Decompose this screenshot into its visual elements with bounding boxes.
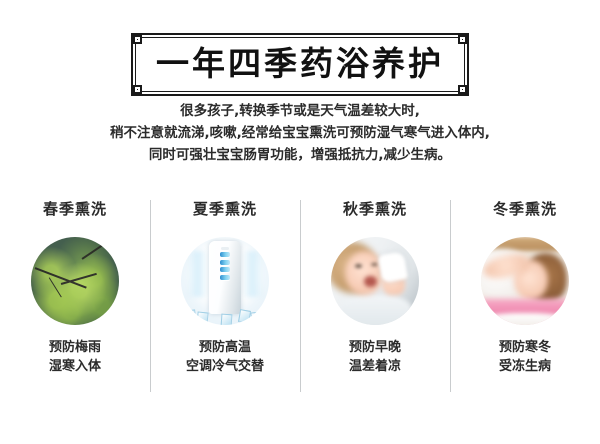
page-title: 一年四季药浴养护 <box>131 33 469 96</box>
season-caption-winter: 预防寒冬 受冻生病 <box>499 338 551 376</box>
cold-air-flow-icon <box>241 251 264 297</box>
season-grid: 春季熏洗 预防梅雨 湿寒入体 夏季熏洗 <box>0 196 600 396</box>
cold-air-flow-icon <box>186 251 209 297</box>
column-divider <box>450 200 451 392</box>
ac-vent <box>220 260 230 265</box>
caption-line-2: 空调冷气交替 <box>186 357 264 376</box>
season-caption-autumn: 预防早晚 温差着凉 <box>349 338 401 376</box>
intro-paragraph: 很多孩子,转换季节或是天气温差较大时, 稍不注意就流涕,咳嗽,经常给宝宝熏洗可预… <box>0 100 600 166</box>
ice-cube-icon <box>221 313 233 325</box>
season-title-autumn: 秋季熏洗 <box>343 202 407 217</box>
child-eye <box>355 264 362 268</box>
column-divider <box>150 200 151 392</box>
season-caption-summer: 预防高温 空调冷气交替 <box>186 338 264 376</box>
child-eye <box>371 263 378 267</box>
caption-line-1: 预防高温 <box>186 338 264 357</box>
intro-line-2: 稍不注意就流涕,咳嗽,经常给宝宝熏洗可预防湿气寒气进入体内, <box>0 122 600 144</box>
ice-cube-icon <box>251 311 264 325</box>
child-shirt <box>338 295 412 325</box>
season-title-spring: 春季熏洗 <box>43 202 107 217</box>
bed-sheet <box>481 313 569 325</box>
spring-foliage-photo <box>31 237 119 325</box>
caption-line-2: 受冻生病 <box>499 357 551 376</box>
intro-line-3: 同时可强壮宝宝肠胃功能，增强抵抗力,减少生病。 <box>0 144 600 166</box>
ac-control-panel <box>221 247 230 250</box>
caption-line-1: 预防梅雨 <box>49 338 101 357</box>
air-conditioner-icon <box>209 241 241 315</box>
ac-vent <box>220 267 230 272</box>
tissue-icon <box>378 251 409 283</box>
season-column-summer: 夏季熏洗 预防高温 空调冷气交替 <box>150 196 300 396</box>
autumn-child-sneezing-photo <box>331 237 419 325</box>
season-column-winter: 冬季熏洗 预防寒冬 受冻生病 <box>450 196 600 396</box>
child-mouth <box>364 276 376 287</box>
caption-line-2: 湿寒入体 <box>49 357 101 376</box>
ice-cube-icon <box>184 309 197 324</box>
title-frame: 一年四季药浴养护 <box>131 33 469 96</box>
ice-cube-icon <box>196 311 209 325</box>
caption-line-2: 温差着凉 <box>349 357 401 376</box>
season-title-summer: 夏季熏洗 <box>193 202 257 217</box>
season-caption-spring: 预防梅雨 湿寒入体 <box>49 338 101 376</box>
season-column-autumn: 秋季熏洗 预防早晚 温差着凉 <box>300 196 450 396</box>
winter-child-in-bed-photo <box>481 237 569 325</box>
ac-vent <box>220 275 230 280</box>
summer-air-conditioner-photo <box>181 237 269 325</box>
season-column-spring: 春季熏洗 预防梅雨 湿寒入体 <box>0 196 150 396</box>
intro-line-1: 很多孩子,转换季节或是天气温差较大时, <box>0 100 600 122</box>
caption-line-1: 预防寒冬 <box>499 338 551 357</box>
caption-line-1: 预防早晚 <box>349 338 401 357</box>
ice-cube-icon <box>238 309 252 324</box>
photo-vignette <box>31 237 119 325</box>
ac-vent <box>220 252 230 257</box>
season-title-winter: 冬季熏洗 <box>493 202 557 217</box>
column-divider <box>300 200 301 392</box>
